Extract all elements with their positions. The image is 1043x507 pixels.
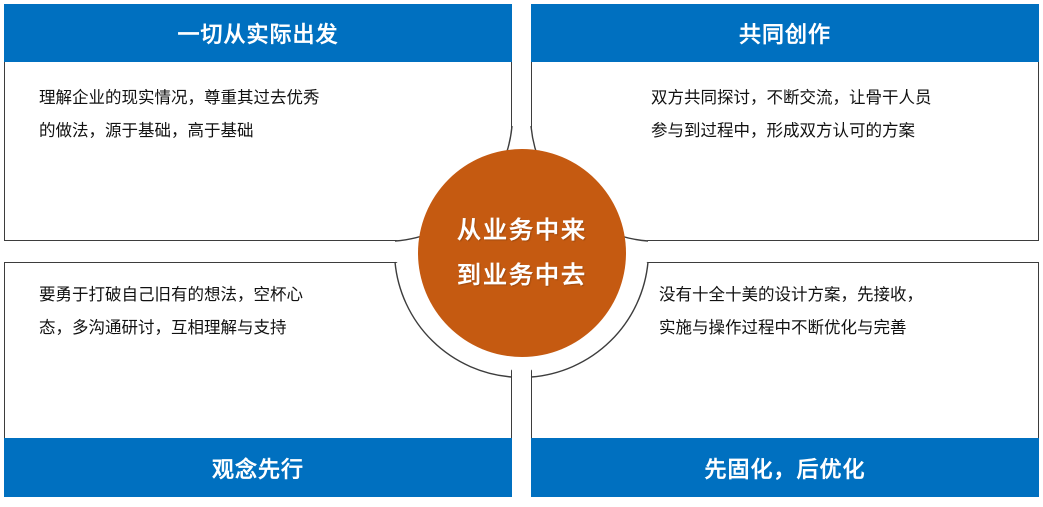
card-top-right-title: 共同创作 [739, 17, 831, 49]
center-hub-line-1: 从业务中来 [457, 208, 587, 253]
card-top-left-text: 理解企业的现实情况，尊重其过去优秀 的做法，源于基础，高于基础 [39, 82, 424, 148]
card-top-left-title-bar: 一切从实际出发 [4, 4, 512, 62]
card-bottom-left-text: 要勇于打破自己旧有的想法，空杯心 态，多沟通研讨，互相理解与支持 [39, 279, 414, 345]
card-top-left-title: 一切从实际出发 [177, 17, 338, 49]
card-top-right-title-bar: 共同创作 [531, 4, 1039, 62]
card-bottom-right-text: 没有十全十美的设计方案，先接收， 实施与操作过程中不断优化与完善 [659, 279, 1034, 345]
center-hub-line-2: 到业务中去 [457, 253, 587, 298]
center-hub[interactable]: 从业务中来 到业务中去 [418, 149, 626, 357]
card-bottom-right-title: 先固化，后优化 [704, 452, 865, 484]
card-bottom-left-title-bar: 观念先行 [4, 438, 512, 497]
diagram-canvas: 一切从实际出发 理解企业的现实情况，尊重其过去优秀 的做法，源于基础，高于基础 … [0, 0, 1043, 507]
card-top-right-text: 双方共同探讨，不断交流，让骨干人员 参与到过程中，形成双方认可的方案 [651, 82, 1031, 148]
card-bottom-right-title-bar: 先固化，后优化 [531, 438, 1039, 497]
card-bottom-left-title: 观念先行 [212, 452, 304, 484]
